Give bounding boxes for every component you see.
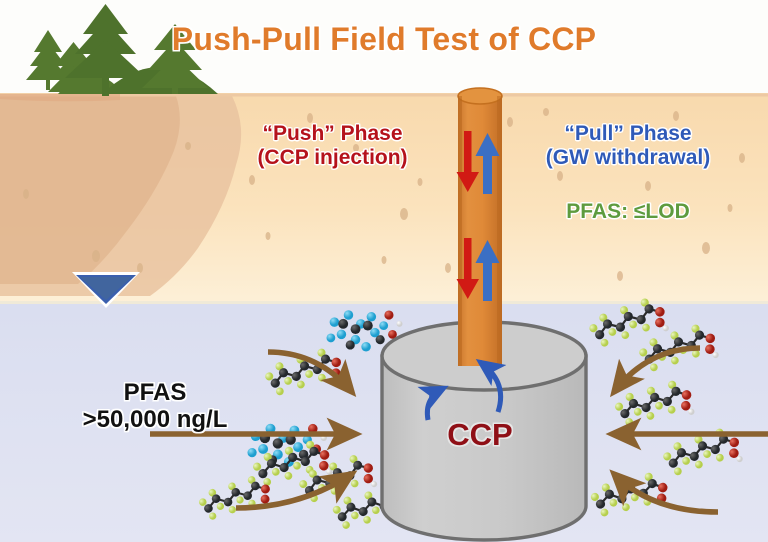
push-phase-label: “Push” Phase (CCP injection) bbox=[215, 122, 450, 169]
push-phase-line-2: (CCP injection) bbox=[215, 146, 450, 170]
pfas-concentration-label: PFAS >50,000 ng/L bbox=[30, 380, 280, 434]
figure-title-text: Push-Pull Field Test of CCP bbox=[172, 21, 596, 57]
pfas-lod-label: PFAS: ≤LOD bbox=[508, 200, 748, 224]
pfas-concentration-line-1: PFAS bbox=[30, 380, 280, 407]
pull-phase-line-1: “Pull” Phase bbox=[508, 122, 748, 146]
pull-phase-line-2: (GW withdrawal) bbox=[508, 146, 748, 170]
pfas-concentration-line-2: >50,000 ng/L bbox=[30, 407, 280, 434]
ccp-zone-label: CCP bbox=[420, 418, 540, 453]
pfas-lod-text: PFAS: ≤LOD bbox=[508, 200, 748, 224]
extraction-curve bbox=[427, 362, 500, 420]
ccp-zone-text: CCP bbox=[420, 418, 540, 453]
pull-phase-label: “Pull” Phase (GW withdrawal) bbox=[508, 122, 748, 169]
extraction-flow-layer bbox=[0, 0, 768, 542]
figure-title: Push-Pull Field Test of CCP bbox=[0, 22, 768, 58]
push-phase-line-1: “Push” Phase bbox=[215, 122, 450, 146]
figure-canvas: Push-Pull Field Test of CCP “Push” Phase… bbox=[0, 0, 768, 542]
